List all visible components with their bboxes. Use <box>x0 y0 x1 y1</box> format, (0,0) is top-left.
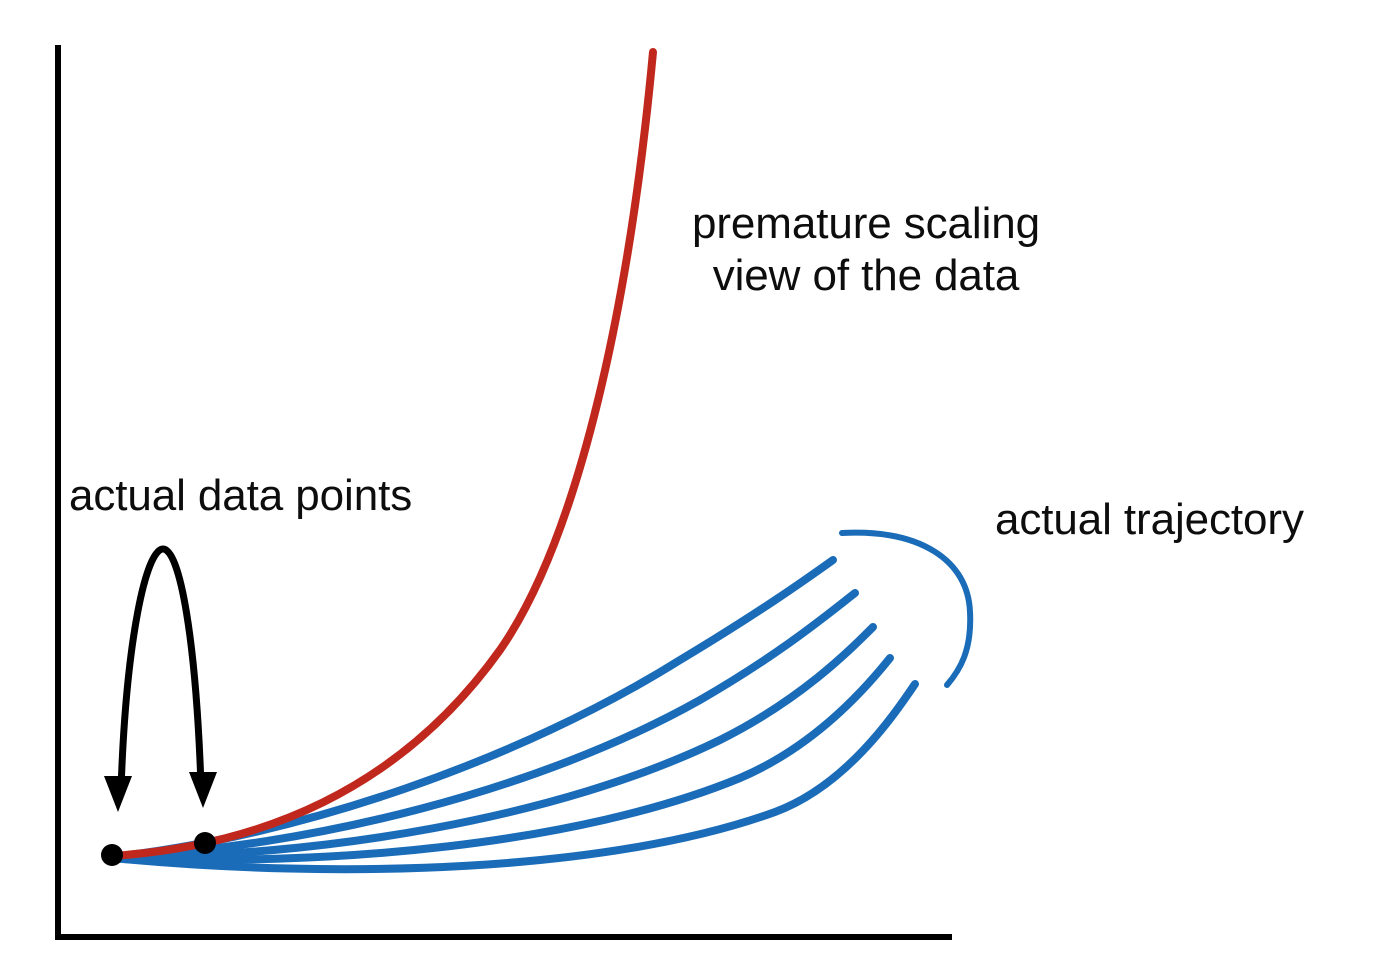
trajectory-bracket-arc <box>842 533 970 685</box>
data-point-1 <box>101 844 123 866</box>
actual-trajectory-fan <box>112 560 915 869</box>
data-point-2 <box>194 832 216 854</box>
arrowhead-right-icon <box>189 772 217 808</box>
premature-scaling-label: premature scaling view of the data <box>666 198 1066 302</box>
premature-scaling-curve <box>112 52 653 856</box>
figure-root: premature scaling view of the data actua… <box>0 0 1373 978</box>
actual-data-points-label: actual data points <box>69 470 412 522</box>
actual-trajectory-label: actual trajectory <box>995 494 1304 546</box>
arrowhead-left-icon <box>104 776 132 812</box>
double-arrow-to-data-points <box>104 549 217 812</box>
trajectory-curve-1 <box>112 560 833 857</box>
arrow-arch-path <box>121 549 201 790</box>
trajectory-curve-4 <box>112 658 890 860</box>
